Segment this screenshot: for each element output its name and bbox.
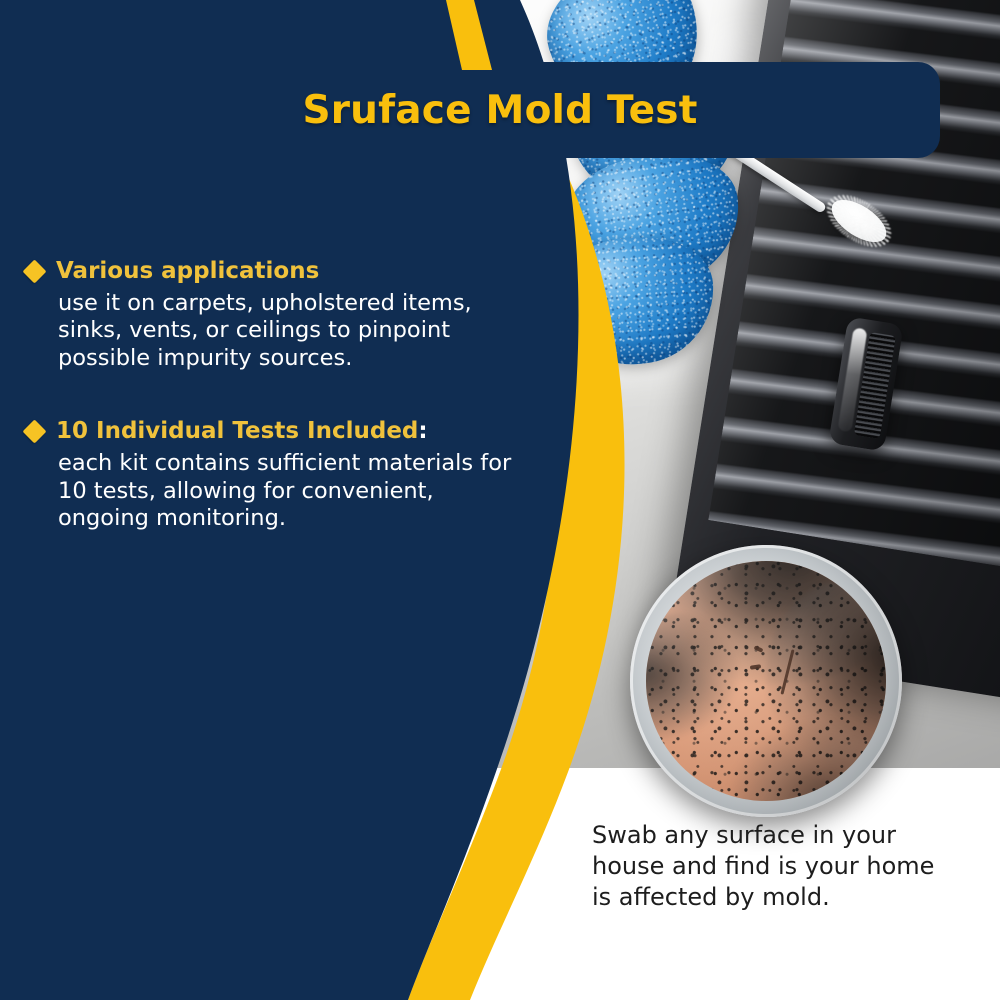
feature-title: Various applications: [56, 258, 319, 284]
title-bar: Sruface Mold Test: [0, 62, 940, 158]
agar-culture: [646, 561, 886, 801]
petri-dish: [630, 545, 902, 817]
diamond-icon: [22, 419, 46, 443]
feature-title: 10 Individual Tests Included:: [56, 418, 428, 444]
page-title: Sruface Mold Test: [242, 88, 697, 133]
feature-item: Various applications use it on carpets, …: [26, 258, 526, 372]
glove-finger: [552, 233, 718, 370]
feature-item: 10 Individual Tests Included: each kit c…: [26, 418, 526, 532]
feature-title-text: 10 Individual Tests Included: [56, 418, 418, 444]
feature-title-suffix: :: [418, 418, 427, 444]
feature-body: each kit contains sufficient materials f…: [58, 450, 526, 532]
feature-heading: 10 Individual Tests Included:: [26, 418, 526, 444]
feature-heading: Various applications: [26, 258, 526, 284]
feature-list: Various applications use it on carpets, …: [26, 258, 526, 579]
diamond-icon: [22, 259, 46, 283]
feature-body: use it on carpets, upholstered items, si…: [58, 290, 526, 372]
feature-title-text: Various applications: [56, 258, 319, 284]
mold-speckles: [646, 561, 886, 801]
microfiber-glove: [512, 0, 772, 400]
infographic-page: Sruface Mold Test Various applications u…: [0, 0, 1000, 1000]
yellow-top-slash: [432, 0, 492, 70]
photo-caption: Swab any surface in your house and find …: [592, 820, 952, 914]
